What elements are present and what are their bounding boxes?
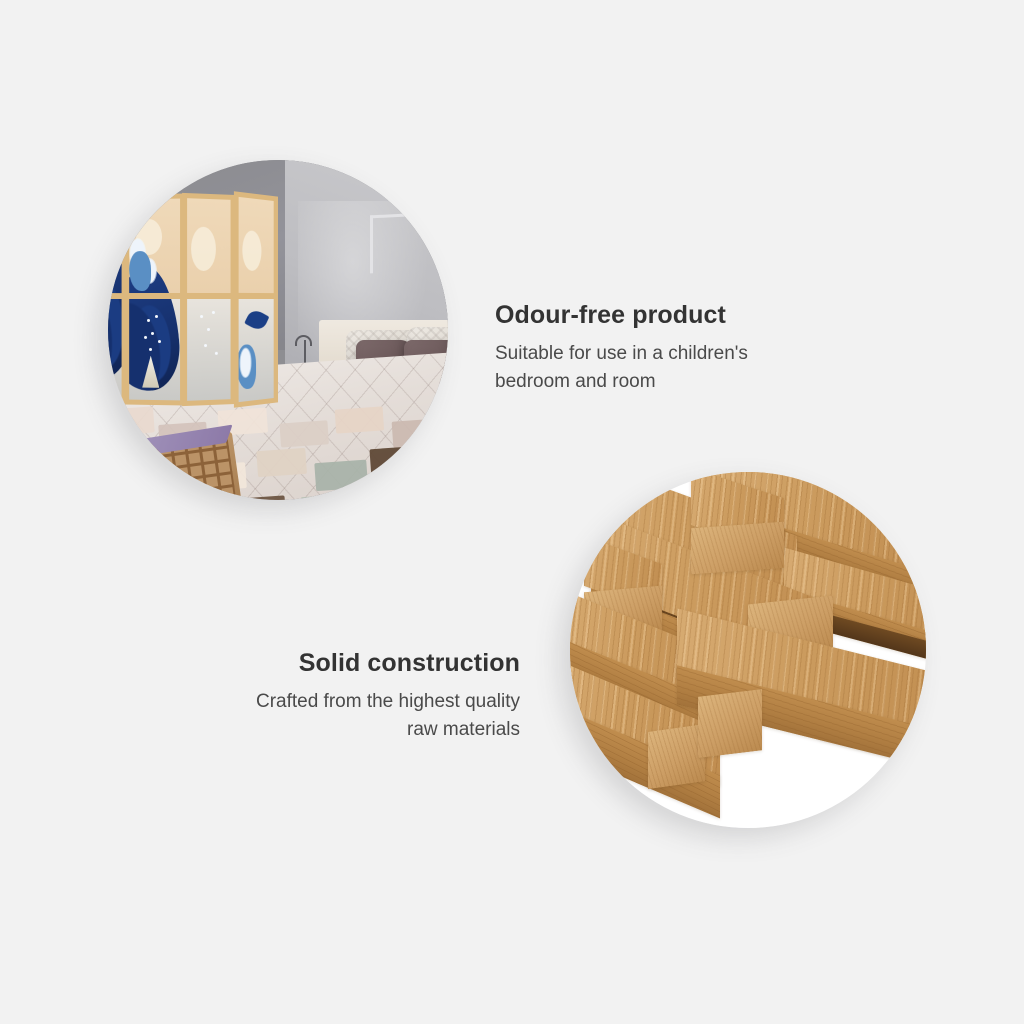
screen-panel-1 <box>108 192 126 407</box>
subtitle-line-1: Suitable for use in a children's <box>495 343 748 364</box>
feature-subtitle-solid-construction: Crafted from the highest quality raw mat… <box>160 688 520 743</box>
feature-image-odour-free <box>108 160 448 500</box>
subtitle-line-2: raw materials <box>407 719 520 740</box>
feature-title-odour-free: Odour-free product <box>495 300 855 331</box>
wood-block-center-end-face <box>691 522 784 575</box>
feature-text-odour-free: Odour-free product Suitable for use in a… <box>495 300 855 395</box>
subtitle-line-1: Crafted from the highest quality <box>256 691 520 712</box>
folding-screen-divider <box>108 194 292 405</box>
screen-panel-3 <box>182 193 235 406</box>
wood-board-front-left-end <box>648 724 705 789</box>
feature-text-solid-construction: Solid construction Crafted from the high… <box>160 648 520 743</box>
wall-frame <box>370 213 424 274</box>
wood-board-front-center-end <box>698 689 762 757</box>
feature-subtitle-odour-free: Suitable for use in a children's bedroom… <box>495 340 855 395</box>
feature-title-solid-construction: Solid construction <box>160 648 520 679</box>
infographic-canvas: Odour-free product Suitable for use in a… <box>0 0 1024 1024</box>
screen-panel-4 <box>234 191 278 407</box>
feature-image-solid-construction <box>570 472 926 828</box>
screen-panel-2 <box>125 193 185 405</box>
subtitle-line-2: bedroom and room <box>495 371 656 392</box>
wood-planks-photo <box>570 472 926 828</box>
bedroom-photo <box>108 160 448 500</box>
